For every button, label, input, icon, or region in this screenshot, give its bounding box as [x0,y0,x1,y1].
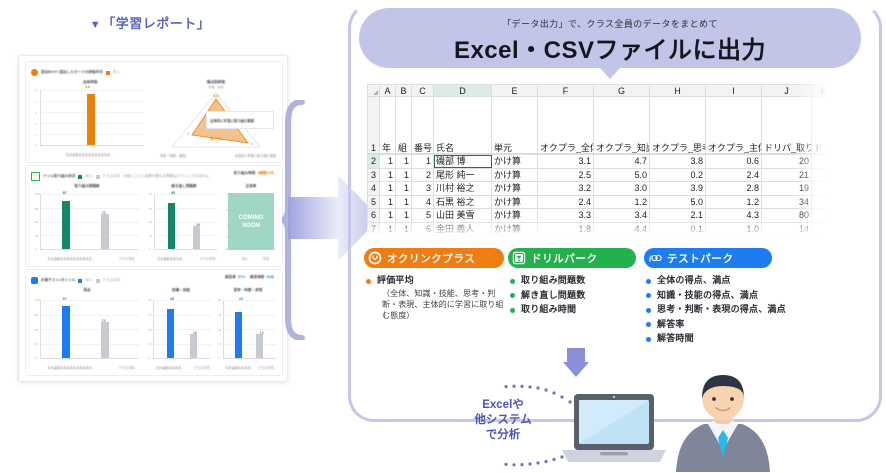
triangle-down-icon: ▼ [90,19,101,31]
badge-item-list: 全体の得点、満点 知識・技能の得点、満点 思考・判断・表現の得点、満点 解答率 … [646,274,824,346]
bullet-icon [646,293,651,298]
list-item-label: 評価平均 [377,275,414,285]
metric-label-rate: 解答率 [225,274,236,281]
dashboard-card-okurink: 提出BOXへ提出したカードの評価平均 本人 全体評価 54 32 10 4. [25,61,283,163]
column-header-h[interactable]: H [650,85,706,97]
axis-category-self: 青木達郎ああああ… [222,365,258,370]
axis-category-self: 青木達郎ああああああああああ… [42,365,100,370]
cell-year[interactable]: 1 [380,182,396,196]
list-item-label: 解答率 [657,319,685,329]
plot-area: 54 32 10 4.6 [40,90,144,146]
header-data-row: 1 年 組 番号 氏名 単元 オクプラ_全体 オクプラ_知識・技能 オクプラ_思… [368,97,836,154]
drillpark-logo-icon [512,251,526,265]
row-header[interactable]: 4 [368,182,380,196]
column-header-d[interactable]: D [434,85,492,97]
cell-name[interactable]: 川村 裕之 [434,182,492,196]
tooltip-value: 本人 3.9 [210,136,222,143]
bullet-icon [366,279,371,284]
bullet-icon [646,322,651,327]
bar-average [101,322,109,358]
bar-value-self: 45 [160,297,184,301]
sheet-bottom-fade [367,218,837,240]
bullet-icon [646,279,651,284]
cell-number[interactable]: 1 [412,155,434,169]
legend-swatch-self [106,71,110,75]
svg-text:4.0: 4.0 [213,93,219,98]
card-title: 提出BOXへ提出したカードの評価平均 [41,69,103,76]
metric-value-time: 30分 [266,274,274,281]
cell-number[interactable]: 3 [412,182,434,196]
cell-year[interactable]: 1 [380,155,396,169]
svg-text:3: 3 [251,142,253,146]
card-title: 計算テスト1タイトル [41,277,75,284]
bar-value-average: 12 [250,331,274,335]
list-item: 思考・判断・表現の得点、満点 [646,303,824,317]
cell-class[interactable]: 1 [396,155,412,169]
card-title: ドリル取り組み状況 [43,173,75,180]
list-item: 解答率 [646,318,824,332]
excel-spreadsheet[interactable]: A B C D E F G H I J K 1 年 組 番号 氏名 単元 オクプ… [367,84,835,236]
legend-label-average: クラス平均 [103,173,121,180]
testpark-logo-icon: i [648,251,662,265]
chart-title: 知識・技能 [148,288,214,293]
bar-value-average: 28 [186,223,210,227]
analysis-caption-line3: で分析 [455,428,551,443]
column-header-row: A B C D E F G H I J K [368,85,836,97]
axis-category-average: クラス平均 [115,256,139,261]
list-item-label: 取り組み問題数 [521,275,585,285]
badge-label: テストパーク [667,251,734,266]
cell-okurink-thinking[interactable]: 3.8 [650,155,706,169]
bar-average [193,226,200,249]
okurink-logo-icon [368,251,382,265]
chart-title: 正答率 [224,184,278,189]
bullet-icon [646,337,651,342]
cell-class[interactable]: 1 [396,182,412,196]
cell-header-okurink-thinking[interactable]: オクプラ_思考・判断・知識 [650,97,706,154]
report-caption-text: 「学習レポート」 [102,16,210,31]
badge-group-testpark: i テストパーク 全体の得点、満点 知識・技能の得点、満点 思考・判断・表現の得… [644,248,824,347]
cell-year[interactable]: 1 [380,168,396,182]
cell-header-unit[interactable]: 単元 [492,97,538,154]
badge-item-list: 取り組み問題数 解き直し問題数 取り組み時間 [510,274,636,317]
card-metrics: 解答率 97% 解答時間 30分 [225,274,274,281]
cell-unit[interactable]: かけ算 [492,155,538,169]
cell-okurink-overall[interactable]: 2.4 [538,195,594,209]
panel-top-gap [360,0,870,8]
axis-category-average: クラス平均 [115,365,139,370]
list-item: 取り組み問題数 [510,274,636,288]
bar-value-self: 97 [53,191,77,195]
bar-self [62,201,70,249]
bar-value-self: 23 [229,297,253,301]
chart-score-total: 得点 10080 6040 0 97 75 青木達郎ああああああああああ… クラ… [31,287,143,372]
list-item-label: 解答時間 [657,333,694,343]
badge-group-okurink: オクリンクプラス 評価平均 （全体、知識・技能、思考・判断・表現、主体的に学習に… [364,248,504,322]
card-note: ※個人ごとに出題が異なる問題はカウントされません。 [123,173,209,180]
badge-pill-okurink[interactable]: オクリンクプラス [364,248,504,268]
radar-axis-label-1: 思考・判断・表現 [160,153,186,158]
analysis-caption: Excelや 他システム で分析 [455,398,551,443]
legend-label-self: 本人 [113,69,120,76]
badge-pill-drillpark[interactable]: ドリルパーク [508,248,636,268]
legend-label-self: 本人 [85,277,92,284]
cell-unit[interactable]: かけ算 [492,168,538,182]
column-header-i[interactable]: I [706,85,762,97]
metric-label-time: 解答時間 [250,274,264,281]
bullet-icon [646,308,651,313]
cell-name[interactable]: 磯部 博 [434,155,492,169]
card-charts: 得点 10080 6040 0 97 75 青木達郎ああああああああああ… クラ… [26,287,282,375]
bar-self [167,309,174,358]
bar-value-average: 28 [183,331,207,335]
cell-name[interactable]: 石黒 裕之 [434,195,492,209]
testpark-icon [31,277,38,284]
bar-average [256,334,263,358]
banner-title: Excel・CSVファイルに出力 [359,30,861,65]
column-header-b[interactable]: B [396,85,412,97]
cell-okurink-thinking[interactable]: 5.0 [650,195,706,209]
cell-okurink-knowledge[interactable]: 3.0 [594,182,650,196]
chart-title: 思考・判断・表現 [218,288,278,293]
list-item: 評価平均 （全体、知識・技能、思考・判断・表現、主体的に学習に取り組む態度） [366,274,504,321]
list-item: 取り組み時間 [510,303,636,317]
axis-category-average: クラス平均 [197,256,219,261]
learning-report-dashboard-thumbnail[interactable]: 提出BOXへ提出したカードの評価平均 本人 全体評価 54 32 10 4. [18,55,288,382]
cell-class[interactable]: 1 [396,168,412,182]
list-item-label: 取り組み時間 [521,304,576,314]
laptop-illustration [560,392,668,466]
cell-okurink-attitude[interactable]: 1.2 [706,195,762,209]
bar-value: 4.6 [75,85,99,89]
axis-category-self: 本人 [236,256,254,261]
row-header-1[interactable]: 1 [368,97,380,154]
badge-pill-testpark[interactable]: i テストパーク [644,248,772,268]
bullet-icon [510,308,515,313]
plot-area: 2520 1510 0 23 12 [223,300,276,359]
bar-self [235,312,242,358]
drillpark-icon [31,172,40,181]
column-header-f[interactable]: F [538,85,594,97]
cell-okurink-knowledge[interactable]: 5.0 [594,168,650,182]
chart-title: 解き直し問題数 [148,184,220,189]
cell-header-okurink-overall[interactable]: オクプラ_全体 [538,97,594,154]
chart-correct-rate: 正答率 2520 1510 5 COMINGSOON 本人 平均 [224,183,278,263]
cell-okurink-knowledge[interactable]: 4.7 [594,155,650,169]
sheet-right-fade [795,84,837,236]
legend-label-average: クラス平均 [103,277,121,284]
axis-category-average: クラス平均 [255,365,277,370]
card-header: 提出BOXへ提出したカードの評価平均 本人 [31,66,277,79]
card-charts: 取り組み問題数 10080 6040 0 97 75 青木達郎あああああああああ… [26,183,282,266]
list-item-label: 全体の得点、満点 [657,275,731,285]
legend-swatch-self [78,175,82,179]
card-header: ドリル取り組み状況 本人 クラス平均 ※個人ごとに出題が異なる問題はカウントされ… [31,170,277,183]
legend-label-self: 本人 [85,173,92,180]
column-header-e[interactable]: E [492,85,538,97]
coming-soon-overlay: COMINGSOON [228,193,274,250]
bar-self [168,203,175,249]
badge-label: オクリンクプラス [387,251,475,266]
list-item-label: 知識・技能の得点、満点 [657,290,758,300]
cell-number[interactable]: 2 [412,168,434,182]
plot-area: 10080 6040 0 97 75 [40,194,139,250]
list-item-label: 思考・判断・表現の得点、満点 [657,304,786,314]
cell-okurink-overall[interactable]: 3.1 [538,155,594,169]
chart-title: 取り組み問題数 [31,184,143,189]
dashboard-card-testpark: 計算テスト1タイトル 本人 クラス平均 解答率 97% 解答時間 30分 得点 [25,269,283,376]
radar-axis-label-2: 主体的に学習に取り組む態度 [235,153,276,158]
cell-unit[interactable]: かけ算 [492,182,538,196]
chart-score-thinking: 思考・判断・表現 2520 1510 0 23 12 青木達郎ああああ… クラス… [218,287,278,372]
tooltip-label: 主体的に学習に取り組む態度 [210,118,254,125]
legend-swatch-self [78,279,82,283]
card-charts: 全体評価 54 32 10 4.6 青木達郎ああああああああああ… 観点別評価 [26,79,282,162]
table-row[interactable]: 4113川村 裕之かけ算3.23.03.92.819 [368,182,836,196]
cell-okurink-overall[interactable]: 3.2 [538,182,594,196]
cell-year[interactable]: 1 [380,195,396,209]
cell-okurink-attitude[interactable]: 2.4 [706,168,762,182]
bullet-icon [510,279,515,284]
svg-text:3: 3 [187,132,189,136]
cell-okurink-attitude[interactable]: 0.6 [706,155,762,169]
card-header: 計算テスト1タイトル 本人 クラス平均 解答率 97% 解答時間 30分 [31,274,277,287]
report-caption: ▼「学習レポート」 [0,13,300,32]
table-row[interactable]: 3112尾形 純一かけ算2.55.00.22.421 [368,168,836,182]
plot-area: 5040 3020 0 45 28 [153,300,211,359]
badge-label: ドリルパーク [531,251,598,266]
row-header[interactable]: 5 [368,195,380,209]
metric-value-rate: 97% [238,274,245,281]
chart-radar-rating: 観点別評価 知識・技能 4.0 3 3 [154,79,278,159]
okurink-icon [31,69,38,76]
row-header[interactable]: 2 [368,155,380,169]
legend-swatch-average [96,175,100,179]
list-item: 知識・技能の得点、満点 [646,289,824,303]
column-header-a[interactable]: A [380,85,396,97]
bar-value-average: 75 [92,211,116,215]
list-item: 全体の得点、満点 [646,274,824,288]
cell-header-year[interactable]: 年 [380,97,396,154]
plot-area: 5040 3020 0 45 28 [154,194,217,250]
axis-category-average: 平均 [257,256,275,261]
analysis-caption-line2: 他システム [455,413,551,428]
radar-chart: 4.0 3 3 主体的に学習に取り組む態度 本人 3.9 思考・判断・表現 主体… [154,79,278,159]
cell-header-class[interactable]: 組 [396,97,412,154]
cell-class[interactable]: 1 [396,195,412,209]
bar-value-average: 75 [92,319,116,323]
chart-overall-rating: 全体評価 54 32 10 4.6 青木達郎ああああああああああ… [31,79,149,159]
list-item-label: 解き直し問題数 [521,290,585,300]
bar-average [101,214,109,249]
axis-category-self: 青木達郎ああああ… [152,365,188,370]
bar-self [62,306,70,358]
banner-arrow-icon [599,67,621,79]
dashboard-card-drillpark: ドリル取り組み状況 本人 クラス平均 ※個人ごとに出題が異なる問題はカウントされ… [25,165,283,267]
table-row[interactable]: 2111磯部 博かけ算3.14.73.80.620 [368,155,836,169]
learning-report-section: ▼「学習レポート」 提出BOXへ提出したカードの評価平均 本人 全体評価 54 [0,0,330,473]
cell-header-number[interactable]: 番号 [412,97,434,154]
cell-okurink-thinking[interactable]: 0.2 [650,168,706,182]
person-illustration [668,372,778,472]
chart-title: 得点 [31,288,143,293]
axis-category-self: 青木達郎ああああああああああ… [42,256,100,261]
list-item-subnote: （全体、知識・技能、思考・判断・表現、主体的に学習に取り組む態度） [382,288,504,321]
cell-okurink-attitude[interactable]: 2.8 [706,182,762,196]
badge-item-list: 評価平均 （全体、知識・技能、思考・判断・表現、主体的に学習に取り組む態度） [366,274,504,321]
column-header-g[interactable]: G [594,85,650,97]
cell-okurink-overall[interactable]: 2.5 [538,168,594,182]
bar-overall [87,94,95,145]
cell-name[interactable]: 尾形 純一 [434,168,492,182]
plot-area: 10080 6040 0 97 75 [40,300,139,359]
output-banner: 「データ出力」で、クラス全員のデータをまとめて Excel・CSVファイルに出力 [359,8,861,68]
cell-header-okurink-attitude[interactable]: オクプラ_主体的に学習に取り組む態度 [706,97,762,154]
cell-header-name[interactable]: 氏名 [434,97,492,154]
legend-swatch-average [96,279,100,283]
analysis-caption-line1: Excelや [455,398,551,413]
chart-redo-questions: 解き直し問題数 5040 3020 0 45 28 青木達郎ああああ… クラス平… [148,183,220,263]
spreadsheet-table: A B C D E F G H I J K 1 年 組 番号 氏名 単元 オクプ… [367,84,835,154]
radar-tooltip: 主体的に学習に取り組む態度 本人 3.9 [206,111,274,129]
cell-okurink-thinking[interactable]: 3.9 [650,182,706,196]
cell-unit[interactable]: かけ算 [492,195,538,209]
axis-category-label: 青木達郎ああああああああああ… [55,152,125,157]
bar-value-self: 97 [53,297,77,301]
row-header[interactable]: 3 [368,168,380,182]
list-item: 解答時間 [646,332,824,346]
chart-attempted-questions: 取り組み問題数 10080 6040 0 97 75 青木達郎あああああああああ… [31,183,143,263]
column-header-c[interactable]: C [412,85,434,97]
cell-header-okurink-knowledge[interactable]: オクプラ_知識・技能 [594,97,650,154]
list-item: 解き直し問題数 [510,289,636,303]
metric-label: 取り組み時間 [234,170,256,177]
table-row[interactable]: 5114石黒 裕之かけ算2.41.25.01.234 [368,195,836,209]
bar-average [190,334,197,358]
badge-group-drillpark: ドリルパーク 取り組み問題数 解き直し問題数 取り組み時間 [508,248,636,318]
flow-arrow-down-icon [563,362,589,377]
card-metric: 取り組み時間 1時間23分 [234,170,274,177]
cell-number[interactable]: 4 [412,195,434,209]
metric-value: 1時間23分 [257,170,274,177]
select-all-corner[interactable] [368,85,380,97]
axis-category-self: 青木達郎ああああ… [152,256,190,261]
cell-okurink-knowledge[interactable]: 1.2 [594,195,650,209]
banner-subtitle: 「データ出力」で、クラス全員のデータをまとめて [359,17,861,30]
chart-score-knowledge: 知識・技能 5040 3020 0 45 28 青木達郎ああああ… クラス平均 [148,287,214,372]
bar-value-self: 45 [161,191,185,195]
bullet-icon [510,293,515,298]
axis-category-average: クラス平均 [191,365,213,370]
